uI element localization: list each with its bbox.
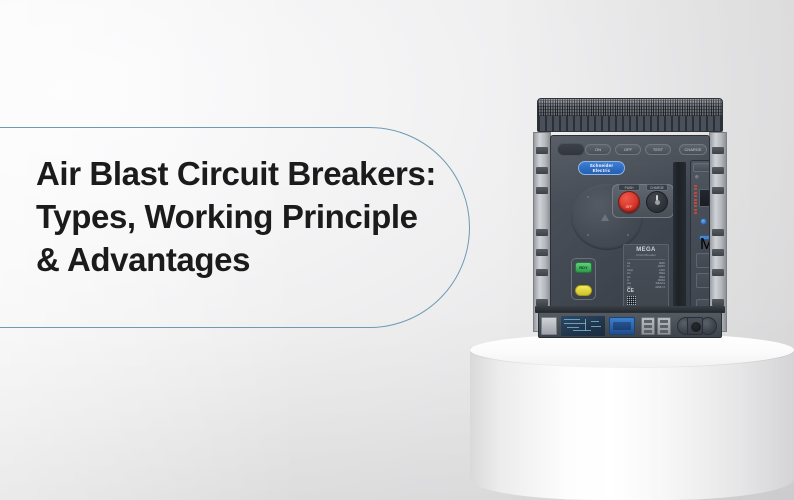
headline-line-1: Air Blast Circuit Breakers:	[36, 152, 466, 195]
knob-hub	[655, 200, 660, 205]
pedestal-body	[470, 347, 794, 500]
top-label-test: TEST	[645, 144, 671, 155]
breaker-left-rail	[533, 132, 551, 332]
knob-tag: CHARGE	[646, 184, 668, 191]
qr-code-icon	[627, 296, 636, 305]
key-lock[interactable]	[687, 317, 703, 335]
top-label-off: OFF	[615, 144, 641, 155]
ready-indicator: RDY	[575, 262, 592, 273]
page-title: Air Blast Circuit Breakers: Types, Worki…	[36, 152, 466, 281]
top-label-row: ON OFF TEST CHARGE	[557, 144, 703, 155]
connector-tray	[538, 312, 722, 338]
menu-button[interactable]: MENU	[699, 235, 710, 240]
brand-name-line-2: Electric	[593, 168, 611, 173]
trip-setting-slot-isd: Isd / tsd	[696, 273, 710, 288]
arc-chute-vent-grille	[537, 98, 723, 132]
product-rating-label: MEGA Circuit Breaker Ue690V Ui1000V Uimp…	[623, 244, 669, 308]
vent-teeth	[538, 116, 722, 132]
tray-left-tab	[541, 317, 557, 335]
hero-banner: Air Blast Circuit Breakers: Types, Worki…	[0, 0, 794, 500]
electronic-trip-unit[interactable]: MENU Ir / tr Isd / tsd Ii	[690, 160, 710, 311]
off-push-button-label: OFF	[619, 205, 639, 209]
circuit-breaker-product-image: ON OFF TEST CHARGE Schneider Electric PU…	[533, 96, 727, 342]
product-pedestal	[470, 333, 794, 500]
top-label-charge: CHARGE	[679, 144, 707, 155]
trip-unit-top-bar	[693, 163, 710, 172]
trip-unit-display	[699, 189, 710, 207]
spec-val-7: 60947-2	[655, 286, 665, 289]
terminal-block	[657, 317, 671, 335]
breaker-front-face: ON OFF TEST CHARGE Schneider Electric PU…	[550, 135, 710, 311]
terminal-block	[641, 317, 655, 335]
trip-setting-slot-ir: Ir / tr	[696, 253, 710, 268]
screw-icon	[695, 175, 699, 179]
key-lock-icon	[691, 322, 701, 332]
status-indicator-strip: RDY	[571, 258, 596, 300]
breaker-right-rail	[709, 132, 727, 332]
charged-indicator	[575, 285, 592, 296]
headline-line-2: Types, Working Principle	[36, 195, 466, 238]
push-button-tag: PUSH	[618, 184, 640, 191]
vent-highlight	[538, 99, 722, 106]
led-indicator-bar	[694, 185, 697, 215]
headline-line-3: & Advantages	[36, 238, 466, 281]
warning-triangle-icon	[601, 214, 609, 221]
label-subtitle: Circuit Breaker	[624, 253, 668, 257]
nav-left-icon[interactable]	[700, 218, 707, 225]
off-push-button[interactable]: OFF	[618, 191, 640, 213]
blue-terminal-connector	[609, 317, 635, 335]
rotary-knob[interactable]	[646, 191, 668, 213]
ce-mark: CE	[627, 288, 634, 294]
top-label-on: ON	[585, 144, 611, 155]
control-pcb	[561, 316, 605, 336]
center-channel	[673, 162, 686, 308]
control-button-cluster[interactable]: PUSH CHARGE OFF	[612, 184, 674, 218]
brand-logo-badge: Schneider Electric	[578, 161, 625, 175]
navigation-pad[interactable]	[700, 211, 710, 233]
